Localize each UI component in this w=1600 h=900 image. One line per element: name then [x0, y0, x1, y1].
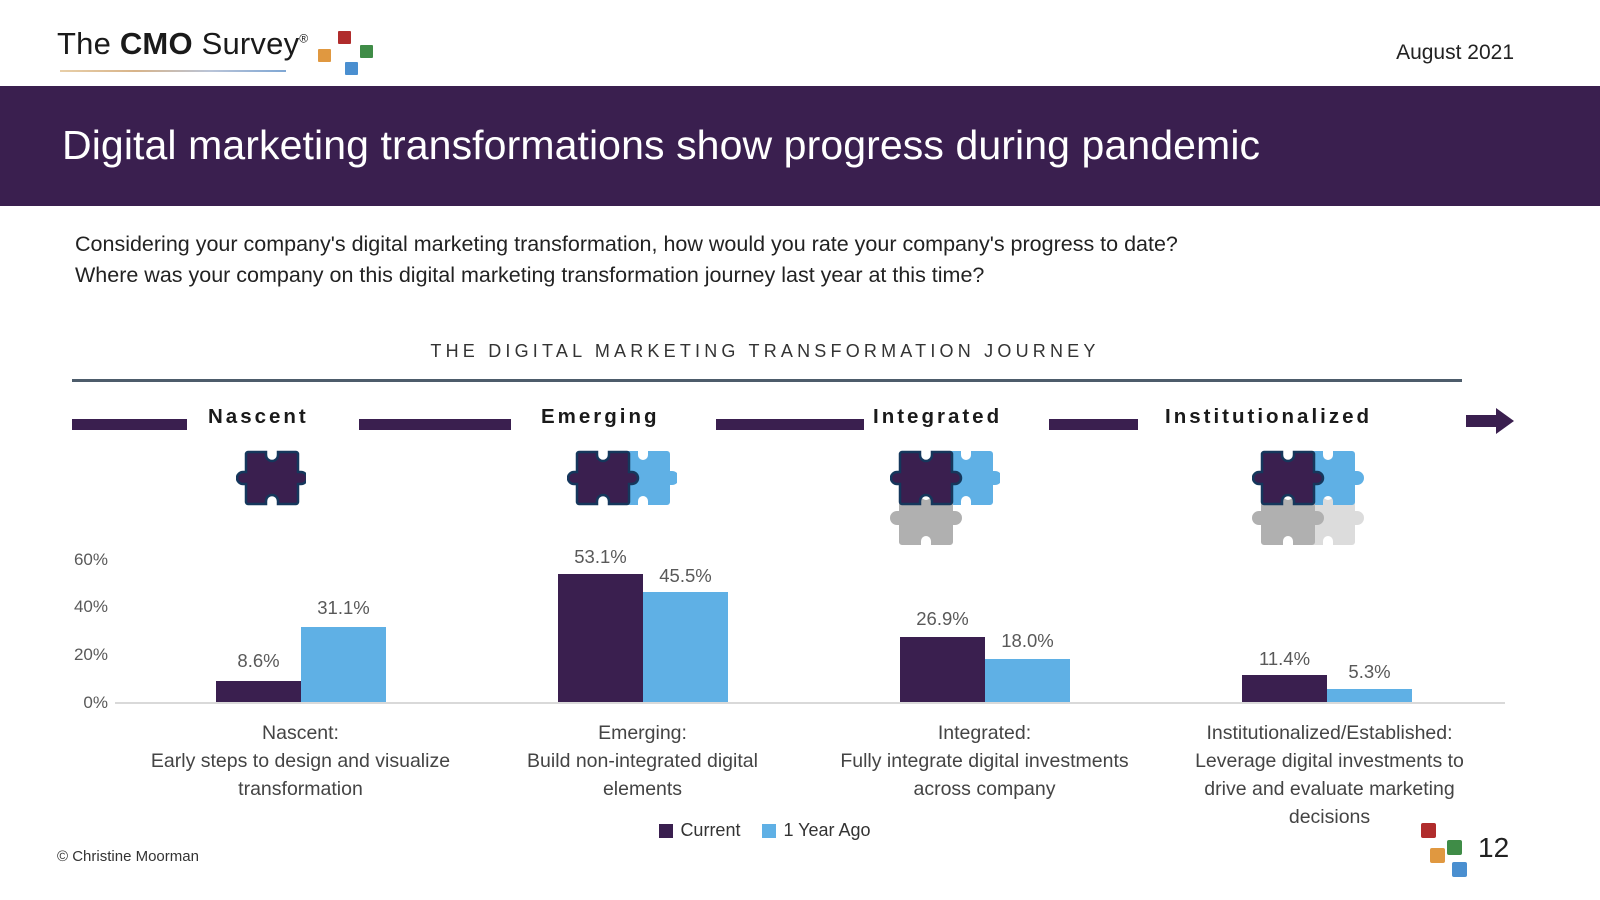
bar-nascent-current: [216, 681, 301, 702]
stage-label-nascent: Nascent: [208, 405, 309, 429]
stage-dash-4: [1049, 419, 1138, 430]
x-axis-line: [115, 702, 1505, 704]
footer-square-blue: [1452, 862, 1467, 877]
page-number: 12: [1478, 832, 1509, 864]
category-integrated-line-3: across company: [812, 775, 1157, 803]
puzzle-icon-integrated: [890, 448, 1000, 550]
bar-label-nascent-current: 8.6%: [216, 650, 301, 672]
y-tick-40: 40%: [48, 597, 108, 617]
bar-nascent-1-year-ago: [301, 627, 386, 702]
legend-label-current: Current: [680, 820, 740, 841]
bar-label-nascent-1-year-ago: 31.1%: [301, 597, 386, 619]
y-tick-60: 60%: [48, 550, 108, 570]
bar-label-emerging-1-year-ago: 45.5%: [643, 565, 728, 587]
journey-heading: THE DIGITAL MARKETING TRANSFORMATION JOU…: [0, 341, 1530, 362]
legend-item-1-year-ago: 1 Year Ago: [762, 820, 870, 841]
logo-survey: Survey: [193, 26, 300, 61]
slide: The CMO Survey® August 2021 Digital mark…: [0, 0, 1600, 900]
category-label-integrated: Integrated: Fully integrate digital inve…: [812, 719, 1157, 803]
y-tick-20: 20%: [48, 645, 108, 665]
stage-label-integrated: Integrated: [873, 405, 1002, 429]
logo-square-red: [338, 31, 351, 44]
survey-date: August 2021: [1396, 41, 1514, 65]
copyright-notice: © Christine Moorman: [57, 848, 199, 865]
category-integrated-line-1: Integrated:: [812, 719, 1157, 747]
stage-dash-2: [359, 419, 511, 430]
page-title: Digital marketing transformations show p…: [62, 122, 1260, 169]
legend-label-1-year-ago: 1 Year Ago: [783, 820, 870, 841]
bar-integrated-1-year-ago: [985, 659, 1070, 702]
bar-emerging-current: [558, 574, 643, 702]
stage-dash-1: [72, 419, 187, 430]
footer-square-orange: [1430, 848, 1445, 863]
question-line-2: Where was your company on this digital m…: [75, 260, 1495, 291]
journey-divider: [72, 379, 1462, 382]
category-institutionalized-line-1: Institutionalized/Established:: [1152, 719, 1507, 747]
category-label-nascent: Nascent: Early steps to design and visua…: [128, 719, 473, 803]
puzzle-icon-emerging: [567, 448, 677, 510]
question-line-1: Considering your company's digital marke…: [75, 229, 1495, 260]
cmo-survey-logo: The CMO Survey®: [57, 26, 347, 76]
stage-label-emerging: Emerging: [541, 405, 660, 429]
logo-wordmark: The CMO Survey®: [57, 26, 347, 62]
category-label-institutionalized: Institutionalized/Established: Leverage …: [1152, 719, 1507, 831]
category-emerging-line-3: elements: [470, 775, 815, 803]
stage-dash-3: [716, 419, 864, 430]
category-label-emerging: Emerging: Build non-integrated digital e…: [470, 719, 815, 803]
y-tick-0: 0%: [48, 693, 108, 713]
footer-square-red: [1421, 823, 1436, 838]
bar-label-emerging-current: 53.1%: [558, 546, 643, 568]
stage-label-institutionalized: Institutionalized: [1165, 405, 1372, 429]
category-institutionalized-line-3: drive and evaluate marketing: [1152, 775, 1507, 803]
legend-swatch-current: [659, 824, 673, 838]
bar-label-institutionalized-1-year-ago: 5.3%: [1327, 661, 1412, 683]
category-emerging-line-2: Build non-integrated digital: [470, 747, 815, 775]
logo-the: The: [57, 26, 120, 61]
legend-item-current: Current: [659, 820, 740, 841]
bar-institutionalized-1-year-ago: [1327, 689, 1412, 702]
bar-integrated-current: [900, 637, 985, 702]
category-nascent-line-3: transformation: [128, 775, 473, 803]
bar-label-institutionalized-current: 11.4%: [1242, 648, 1327, 670]
legend-swatch-1-year-ago: [762, 824, 776, 838]
registered-mark-icon: ®: [299, 32, 308, 46]
logo-underline-rule: [60, 70, 286, 72]
bar-emerging-1-year-ago: [643, 592, 728, 702]
journey-arrow-icon: [1466, 408, 1514, 434]
bar-institutionalized-current: [1242, 675, 1327, 702]
logo-square-blue: [345, 62, 358, 75]
category-institutionalized-line-2: Leverage digital investments to: [1152, 747, 1507, 775]
logo-square-orange: [318, 49, 331, 62]
survey-question: Considering your company's digital marke…: [75, 229, 1495, 291]
category-emerging-line-1: Emerging:: [470, 719, 815, 747]
logo-cmo: CMO: [120, 26, 193, 61]
bar-label-integrated-current: 26.9%: [900, 608, 985, 630]
category-integrated-line-2: Fully integrate digital investments: [812, 747, 1157, 775]
category-nascent-line-1: Nascent:: [128, 719, 473, 747]
logo-square-green: [360, 45, 373, 58]
bar-label-integrated-1-year-ago: 18.0%: [985, 630, 1070, 652]
puzzle-icon-nascent: [236, 448, 306, 510]
journey-stage-band: Nascent Emerging Integrated Institutiona…: [0, 405, 1600, 445]
category-nascent-line-2: Early steps to design and visualize: [128, 747, 473, 775]
chart-legend: Current 1 Year Ago: [0, 820, 1530, 841]
footer-square-green: [1447, 840, 1462, 855]
puzzle-icon-institutionalized: [1252, 448, 1402, 550]
